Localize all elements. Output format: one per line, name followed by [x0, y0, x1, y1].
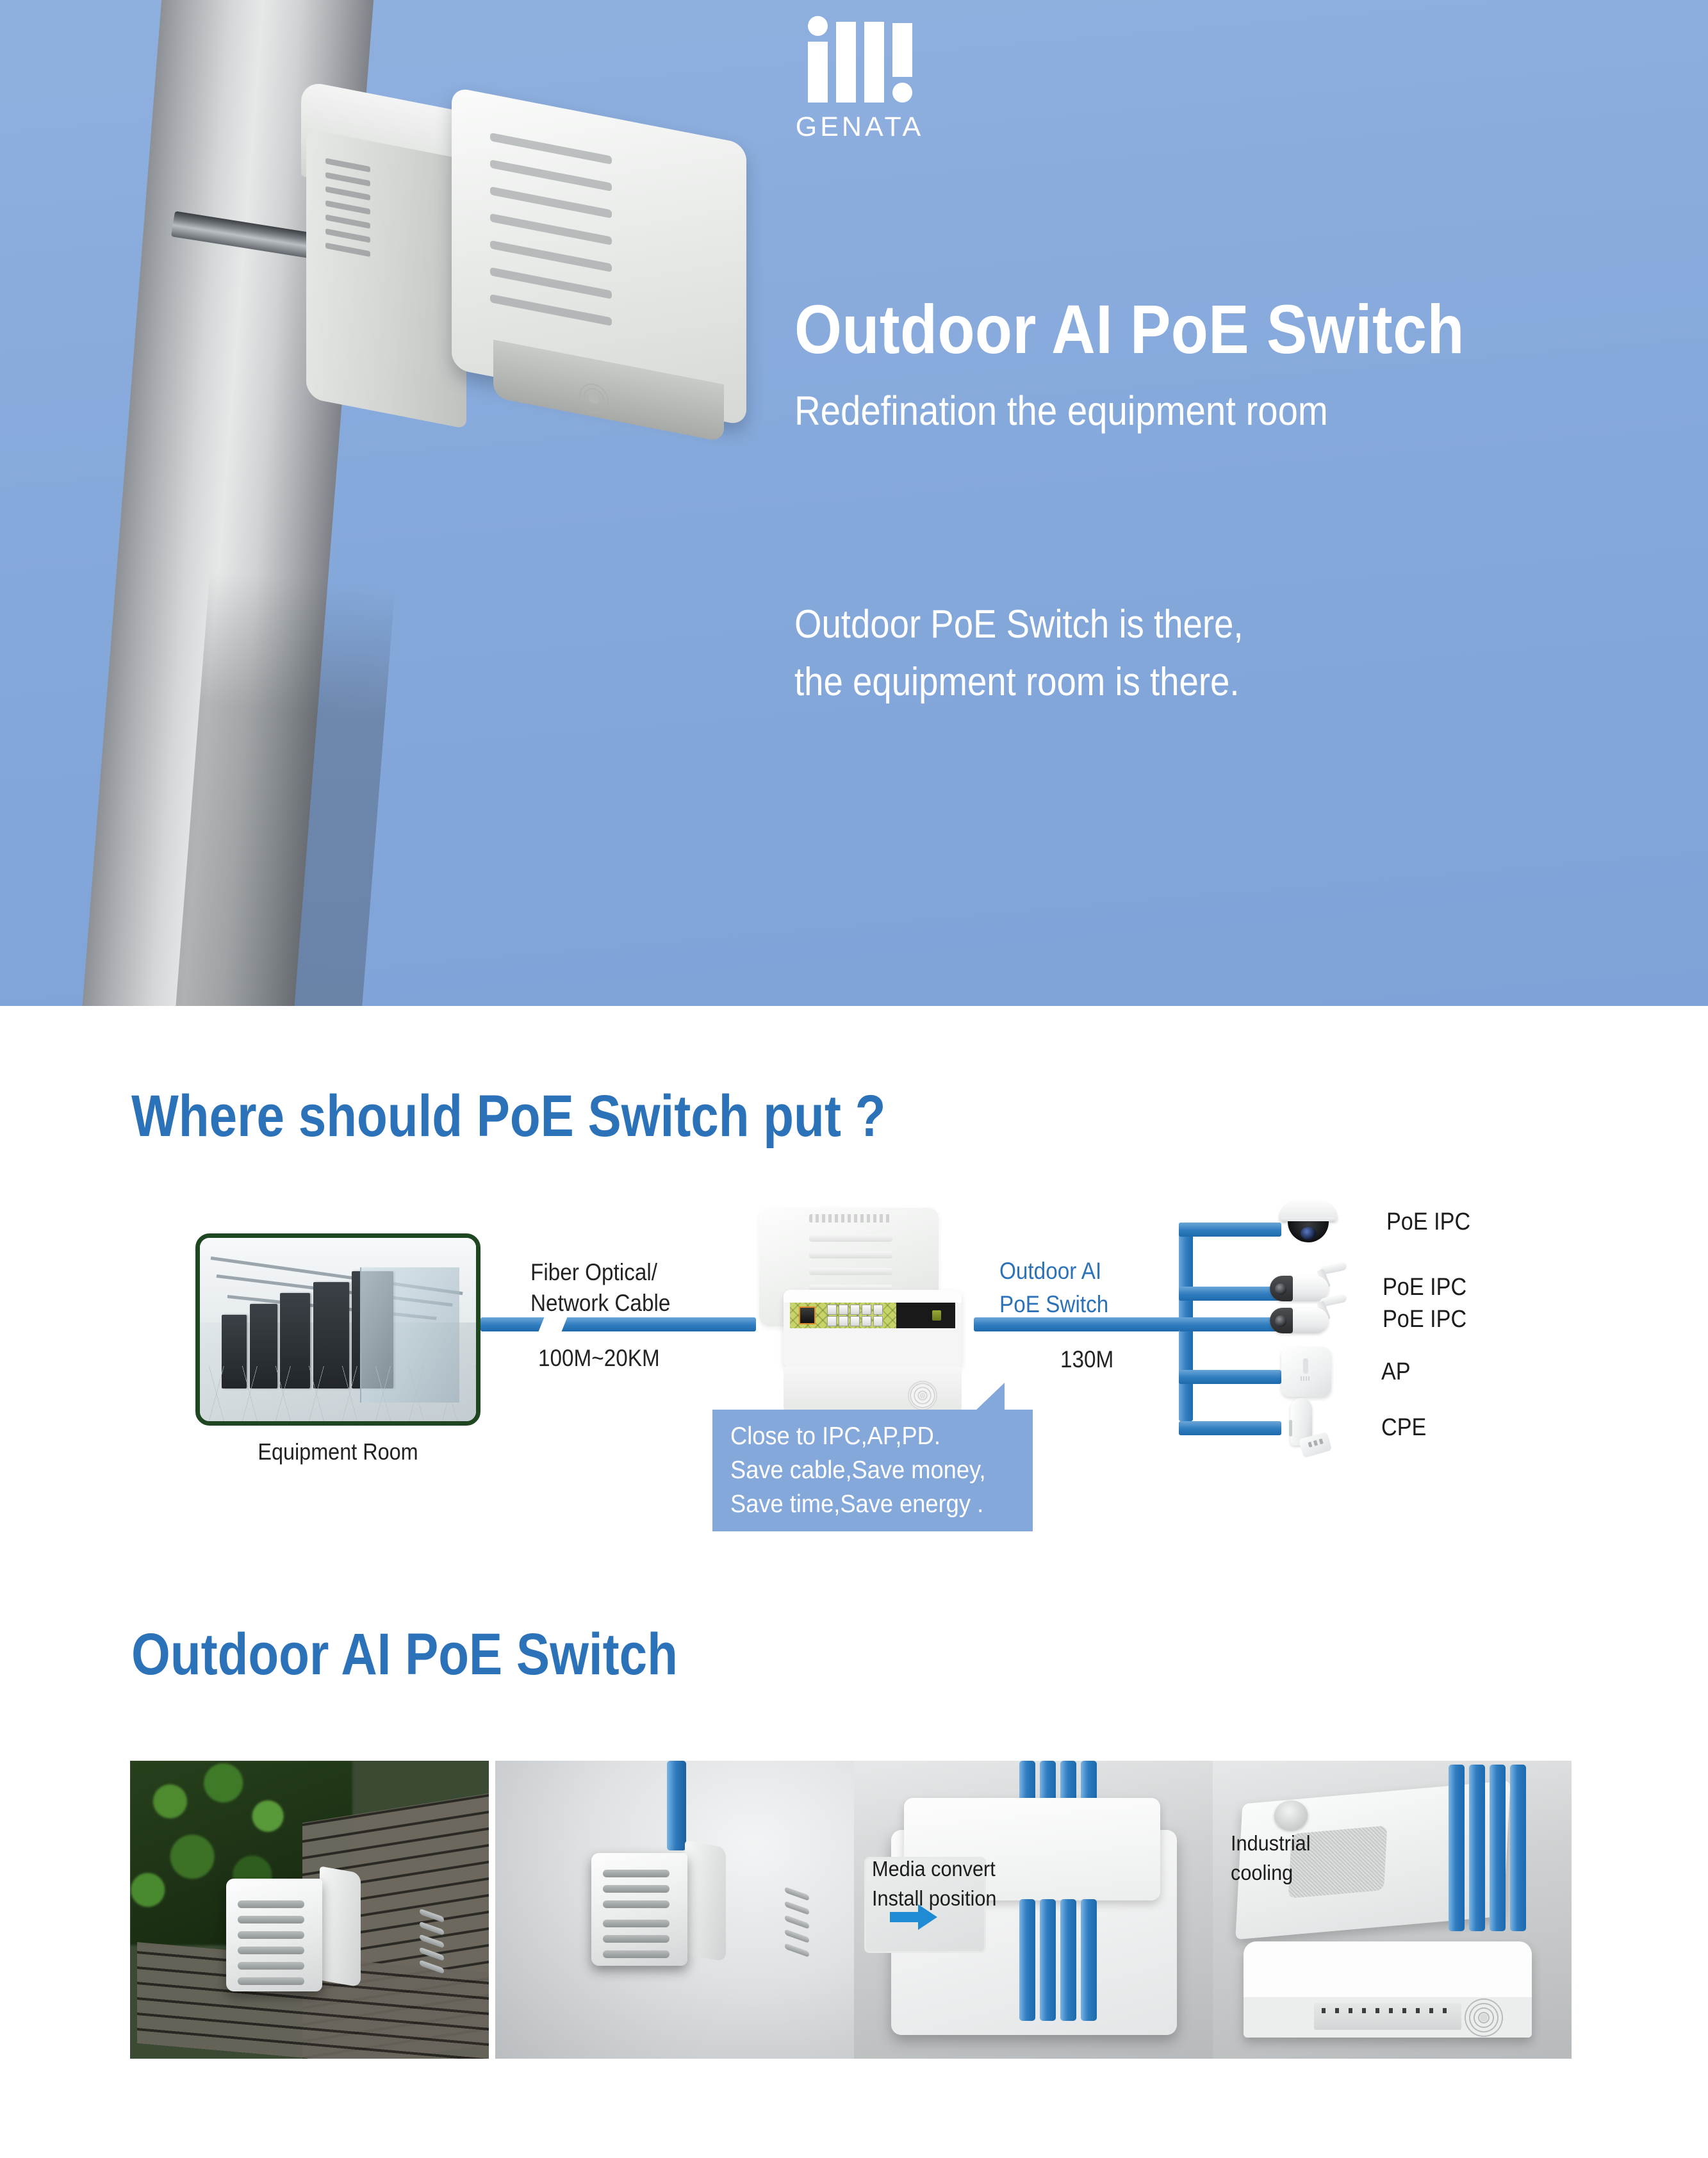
- bullet-camera-icon: [1270, 1296, 1344, 1342]
- downlink-cable: [974, 1317, 1185, 1331]
- gallery-image-2: [495, 1761, 854, 2059]
- callout-line1: Close to IPC,AP,PD.: [730, 1419, 1016, 1453]
- brand-name: GENATA: [789, 111, 930, 143]
- callout-pointer: [975, 1383, 1005, 1411]
- uplink-label-line2: Network Cable: [530, 1288, 670, 1319]
- branch-2: [1179, 1287, 1281, 1301]
- blue-right-arrow-tail: [890, 1912, 919, 1922]
- gallery-image-3: Media convert Install position: [854, 1761, 1213, 2059]
- device-label-3: PoE IPC: [1383, 1306, 1466, 1333]
- section-title-where-should-poe-switch-put: Where should PoE Switch put ?: [131, 1083, 885, 1150]
- device-row-1: PoE IPC: [1275, 1200, 1480, 1244]
- product-gallery: Media convert Install position Industria…: [0, 1761, 1708, 2062]
- deployment-diagram: Equipment Room Fiber Optical/ Network Ca…: [0, 1198, 1708, 1570]
- device-row-4: AP: [1281, 1347, 1414, 1397]
- dome-camera-icon: [1275, 1200, 1342, 1244]
- uplink-distance: 100M~20KM: [538, 1343, 660, 1374]
- hero-title: Outdoor AI PoE Switch: [794, 292, 1561, 368]
- gallery-note-3-line2: Install position: [872, 1885, 996, 1913]
- pole-shadow: [175, 570, 395, 1006]
- uplink-label-line1: Fiber Optical/: [530, 1257, 657, 1289]
- switch-label-line1: Outdoor AI: [999, 1256, 1101, 1287]
- callout-line2: Save cable,Save money,: [730, 1453, 1016, 1487]
- sfp-port-icon: [799, 1306, 816, 1324]
- access-point-icon: [1281, 1347, 1331, 1397]
- cpe-antenna-icon: [1281, 1398, 1331, 1457]
- device-row-5: CPE: [1281, 1398, 1431, 1457]
- branch-4: [1179, 1370, 1281, 1384]
- switch-label-line2: PoE Switch: [999, 1289, 1108, 1321]
- gallery-image-4: Industrial cooling: [1213, 1761, 1572, 2059]
- device-label-1: PoE IPC: [1386, 1208, 1470, 1236]
- hero-subtitle: Redefination the equipment room: [794, 387, 1561, 434]
- hero-tagline-line1: Outdoor PoE Switch is there,: [794, 596, 1561, 654]
- gallery-note-4-line2: cooling: [1231, 1859, 1293, 1887]
- equipment-room-caption: Equipment Room: [209, 1438, 466, 1465]
- device-label-5: CPE: [1381, 1414, 1426, 1442]
- gallery-note-4-line1: Industrial: [1231, 1830, 1311, 1857]
- equipment-room-photo: [195, 1233, 480, 1426]
- hero-tagline-line2: the equipment room is there.: [794, 654, 1561, 711]
- cooling-fan-icon: [1464, 1998, 1504, 2038]
- device-label-4: AP: [1381, 1358, 1411, 1386]
- brand-logo: GENATA: [789, 32, 930, 143]
- switch-front-panel: [784, 1290, 962, 1370]
- gallery-note-3-line1: Media convert: [872, 1856, 996, 1883]
- bar-chart-exclamation-logo-icon: [789, 32, 930, 103]
- hero-heading-group: Outdoor AI PoE Switch Redefination the e…: [794, 292, 1666, 434]
- section-title-outdoor-ai-poe-switch: Outdoor AI PoE Switch: [131, 1621, 678, 1688]
- callout-line3: Save time,Save energy .: [730, 1487, 1016, 1521]
- hero-banner: GENATA Outdoor AI PoE Switch Redefinatio…: [0, 0, 1708, 1006]
- branch-5: [1179, 1421, 1281, 1435]
- uplink-cable: [480, 1317, 756, 1331]
- device-left-shell: [306, 129, 466, 429]
- downlink-distance: 130M: [1060, 1344, 1113, 1376]
- branch-1: [1179, 1223, 1281, 1237]
- rj45-port-group: [827, 1305, 883, 1326]
- device-row-3: PoE IPC: [1270, 1296, 1476, 1342]
- outdoor-poe-switch-illustration: [753, 1208, 983, 1400]
- hero-product-photo: [301, 80, 743, 413]
- switch-fan-icon: [908, 1381, 937, 1410]
- hero-tagline-group: Outdoor PoE Switch is there, the equipme…: [794, 596, 1666, 711]
- gallery-image-1: [130, 1761, 489, 2059]
- branch-3: [1179, 1317, 1281, 1331]
